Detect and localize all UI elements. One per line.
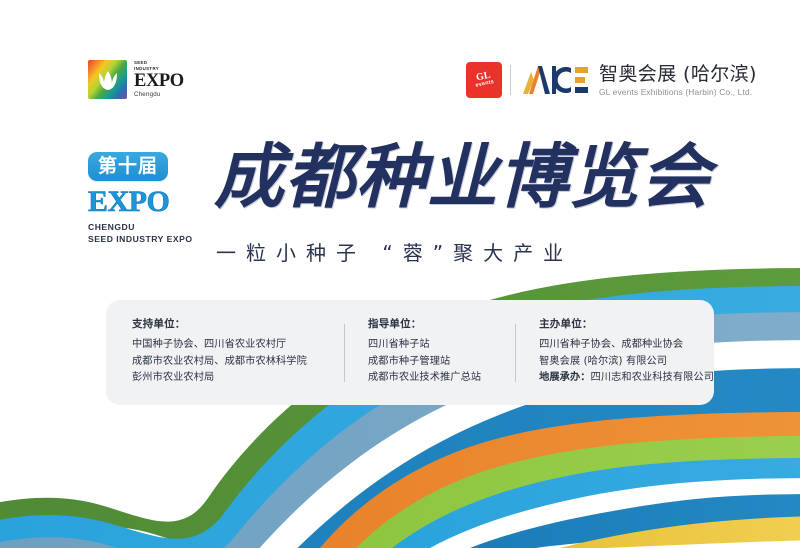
logo-chengdu-text: Chengdu — [134, 91, 184, 99]
column-divider — [515, 324, 516, 382]
support-heading: 支持单位： — [132, 318, 344, 331]
edition-and-expo-mark: 第十届 EXPO CHENGDU SEED INDUSTRY EXPO — [88, 152, 213, 245]
expo-blue-text: EXPO — [88, 186, 213, 218]
gl-events-en: GL events Exhibitions (Harbin) Co., Ltd. — [599, 86, 757, 98]
guidance-heading: 指导单位： — [368, 318, 515, 331]
edition-badge: 第十届 — [88, 152, 168, 181]
gl-events-badge: GL events — [466, 62, 502, 98]
expo-english-line2: SEED INDUSTRY EXPO — [88, 234, 213, 246]
guidance-line-3: 成都市农业技术推广总站 — [368, 370, 515, 387]
logo-expo-text: EXPO — [134, 72, 184, 91]
host-line-1: 四川省种子协会、成都种业协会 — [539, 337, 714, 354]
host-extra-label: 地展承办： — [539, 372, 590, 383]
logo-divider — [510, 65, 511, 95]
support-line-3: 彭州市农业农村局 — [132, 370, 344, 387]
gl-events-aice-logo: GL events 智奥会展 (哈 — [466, 62, 757, 98]
info-column-host: 主办单位： 四川省种子协会、成都种业协会 智奥会展 (哈尔滨) 有限公司 地展承… — [515, 318, 714, 387]
expo-english-name: CHENGDU SEED INDUSTRY EXPO — [88, 222, 213, 245]
guidance-line-2: 成都市种子管理站 — [368, 354, 515, 371]
column-divider — [344, 324, 345, 382]
leaf-glyph — [93, 65, 123, 95]
guidance-line-1: 四川省种子站 — [368, 337, 515, 354]
support-line-1: 中国种子协会、四川省农业农村厅 — [132, 337, 344, 354]
host-heading: 主办单位： — [539, 318, 714, 331]
expo-english-line1: CHENGDU — [88, 222, 213, 234]
host-line-2: 智奥会展 (哈尔滨) 有限公司 — [539, 354, 714, 371]
gl-events-wordmark: 智奥会展 (哈尔滨) GL events Exhibitions (Harbin… — [599, 63, 757, 98]
poster-canvas: SEED INDUSTRY EXPO Chengdu GL events — [0, 0, 800, 548]
expo-wordmark: SEED INDUSTRY EXPO Chengdu — [134, 60, 184, 98]
host-extra: 地展承办：四川志和农业科技有限公司 — [539, 370, 714, 387]
gl-events-cn: 智奥会展 (哈尔滨) — [599, 63, 757, 85]
info-column-support: 支持单位： 中国种子协会、四川省农业农村厅 成都市农业农村局、成都市农林科学院 … — [132, 318, 344, 387]
rainbow-seed-leaf-mark — [88, 60, 127, 99]
organizers-info-panel: 支持单位： 中国种子协会、四川省农业农村厅 成都市农业农村局、成都市农林科学院 … — [106, 300, 714, 405]
info-column-guidance: 指导单位： 四川省种子站 成都市种子管理站 成都市农业技术推广总站 — [344, 318, 515, 387]
gl-badge-events: events — [475, 80, 494, 89]
poster-header: SEED INDUSTRY EXPO Chengdu GL events — [0, 0, 800, 130]
slogan: 一粒小种子 “蓉”聚大产业 — [216, 240, 573, 266]
support-line-2: 成都市农业农村局、成都市农林科学院 — [132, 354, 344, 371]
chengdu-expo-logo: SEED INDUSTRY EXPO Chengdu — [88, 60, 184, 99]
host-extra-value: 四川志和农业科技有限公司 — [591, 372, 714, 383]
main-title: 成都种业博览会 — [214, 140, 711, 214]
aice-logomark — [519, 64, 589, 96]
